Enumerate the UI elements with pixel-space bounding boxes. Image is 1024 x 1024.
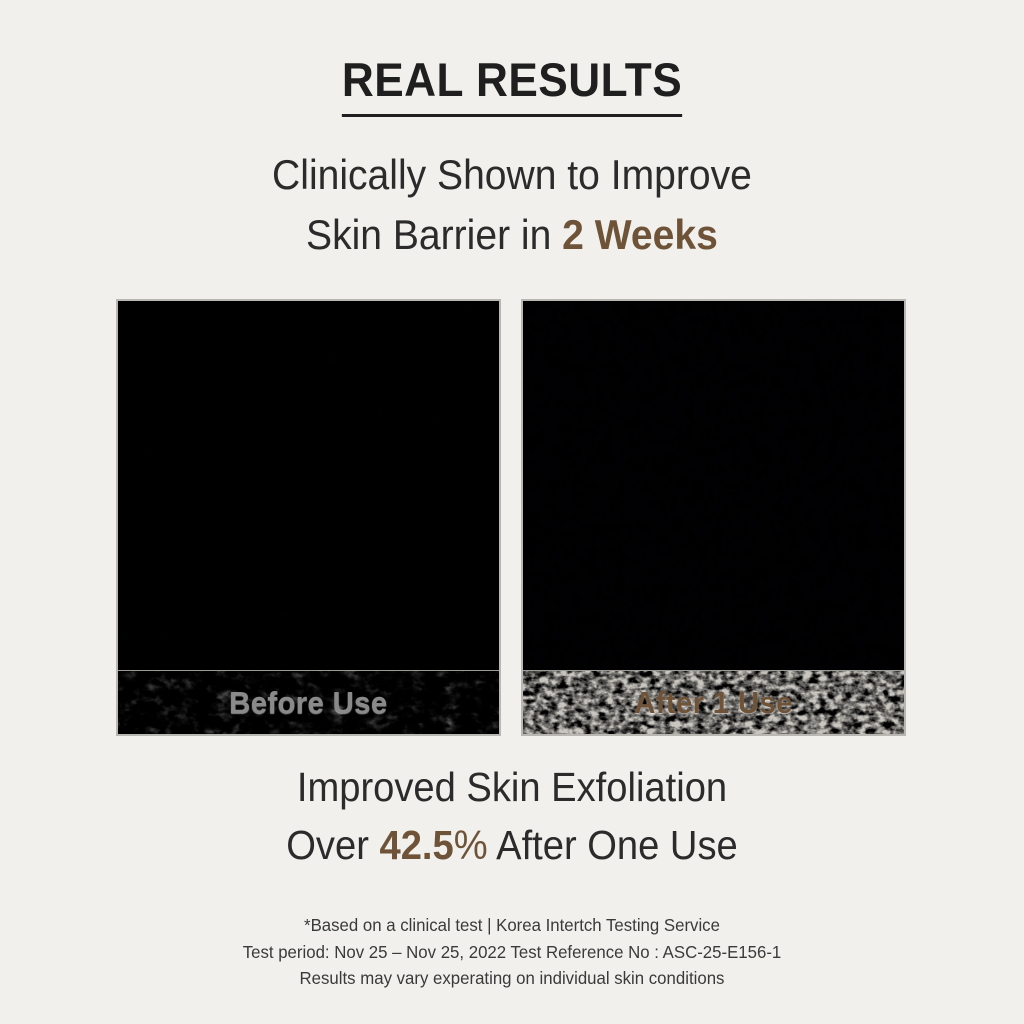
comparison-panels: Before Use	[116, 299, 906, 736]
result-prefix: Over	[286, 822, 379, 868]
subheading: Clinically Shown to Improve Skin Barrier…	[272, 145, 752, 264]
panel-after: After 1 Use	[521, 299, 906, 736]
panel-caption-strip-after: After 1 Use	[523, 670, 904, 734]
microscopy-image-before	[118, 301, 499, 675]
microscopy-image-after	[523, 301, 904, 675]
result-value: 42.5	[380, 822, 454, 868]
page-title: REAL RESULTS	[342, 56, 682, 117]
panel-label-before: Before Use	[229, 685, 387, 721]
heatmap-texture-dense	[118, 301, 499, 675]
headline-block: REAL RESULTS	[331, 56, 693, 117]
panel-caption-strip-before: Before Use	[118, 670, 499, 734]
panel-label-after: After 1 Use	[634, 685, 793, 721]
result-unit: %	[454, 822, 488, 868]
subheading-line-1: Clinically Shown to Improve	[272, 145, 752, 205]
heatmap-texture-sparse	[523, 301, 904, 675]
result-suffix: After One Use	[488, 822, 738, 868]
disclaimer: *Based on a clinical test | Korea Intert…	[20, 912, 1003, 992]
panel-before: Before Use	[116, 299, 501, 736]
results-infographic: REAL RESULTS Clinically Shown to Improve…	[0, 0, 1024, 1024]
subheading-line-2: Skin Barrier in 2 Weeks	[272, 205, 752, 265]
subheading-line-2-prefix: Skin Barrier in	[306, 211, 562, 258]
disclaimer-line-1: *Based on a clinical test | Korea Intert…	[20, 912, 1003, 939]
result-line-1: Improved Skin Exfoliation	[36, 758, 988, 816]
result-line-2: Over 42.5% After One Use	[36, 816, 988, 874]
result-statement: Improved Skin Exfoliation Over 42.5% Aft…	[36, 758, 988, 874]
disclaimer-line-3: Results may vary experating on individua…	[20, 965, 1003, 992]
disclaimer-line-2: Test period: Nov 25 – Nov 25, 2022 Test …	[20, 939, 1003, 966]
subheading-accent: 2 Weeks	[562, 211, 718, 258]
